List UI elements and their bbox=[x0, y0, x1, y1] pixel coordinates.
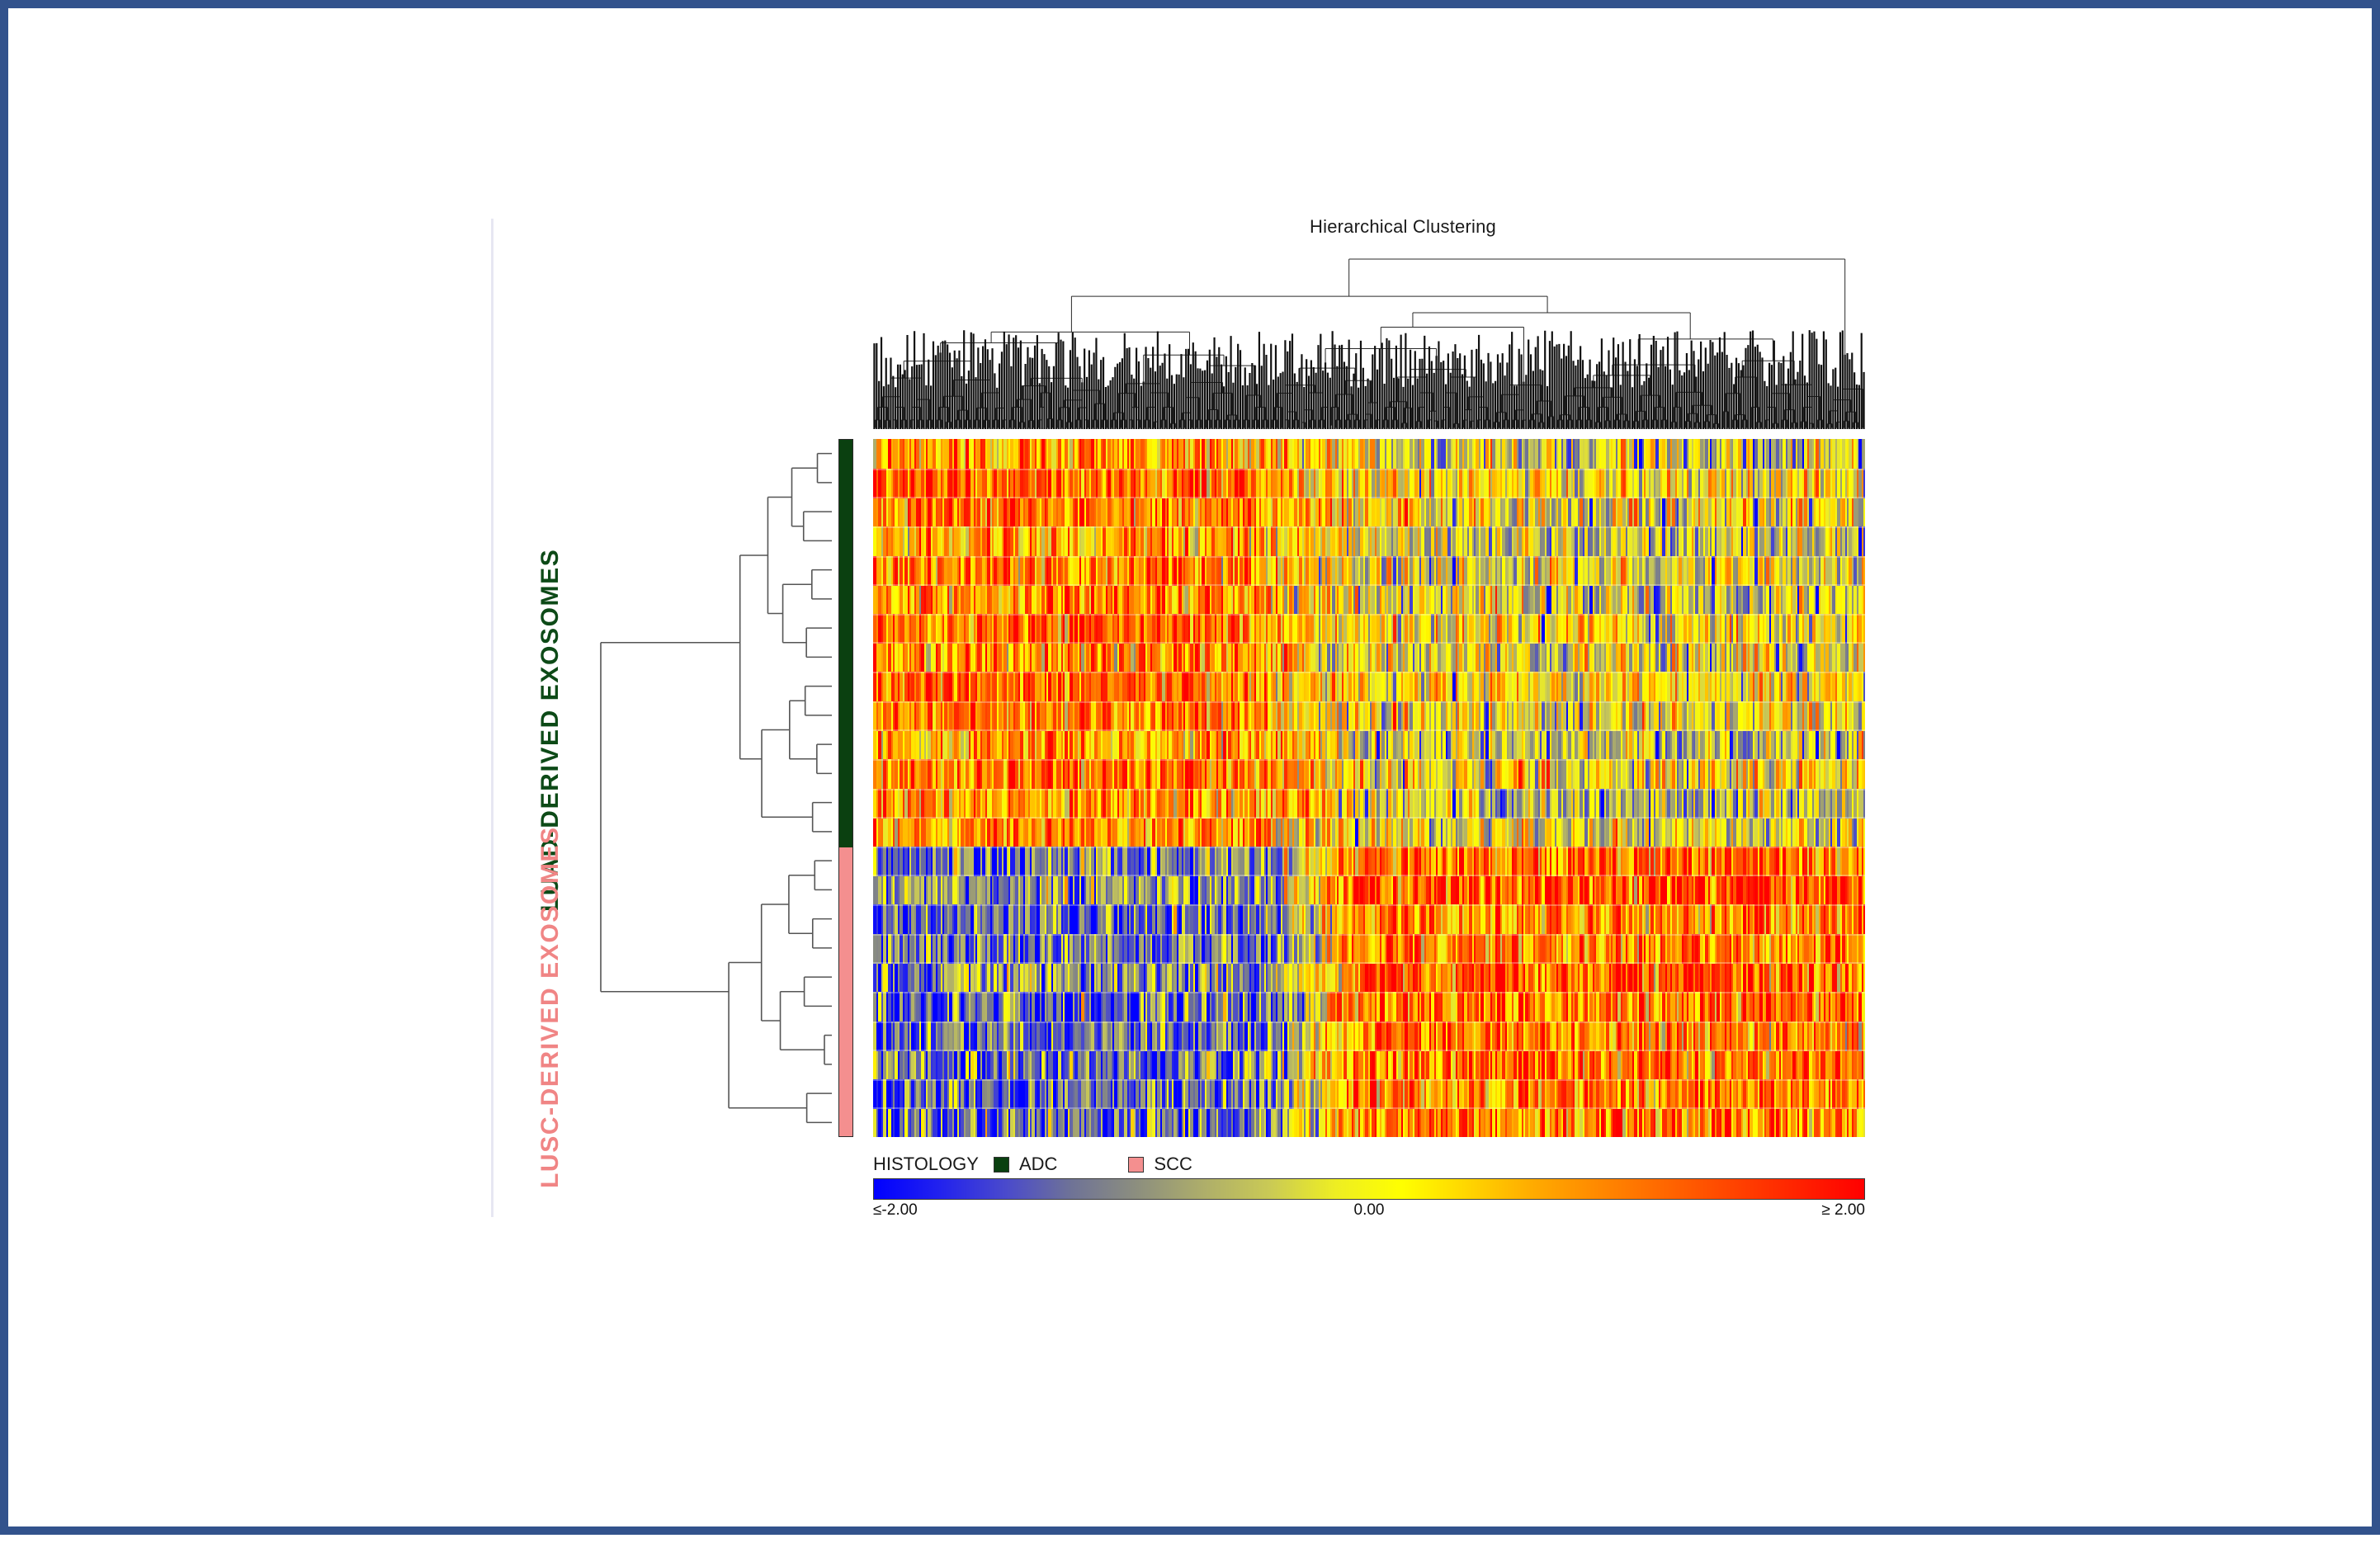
colorbar-max-label: ≥ 2.00 bbox=[1821, 1201, 1865, 1220]
histology-annotation-strip bbox=[838, 439, 853, 1137]
colorbar-tick-labels: ≤-2.00 0.00 ≥ 2.00 bbox=[873, 1200, 1865, 1221]
column-dendrogram-svg bbox=[873, 256, 1865, 429]
row-dendrogram bbox=[586, 439, 833, 1137]
row-group-label-lusc: LUSC-DERIVED EXOSOMES bbox=[536, 826, 564, 1188]
figure-frame: Hierarchical Clustering LUAD-DERIVED EXO… bbox=[0, 0, 2380, 1535]
colorbar-min-label: ≤-2.00 bbox=[873, 1201, 918, 1220]
row-dendrogram-links bbox=[601, 454, 832, 1123]
histology-segment-adc bbox=[839, 440, 852, 847]
heatmap-canvas bbox=[873, 439, 1865, 1137]
row-dendrogram-svg bbox=[586, 439, 833, 1137]
histology-legend: HISTOLOGY ADC SCC bbox=[873, 1152, 1192, 1177]
legend-label-scc: SCC bbox=[1154, 1154, 1192, 1175]
left-divider-rule bbox=[491, 219, 493, 1217]
column-dendrogram bbox=[873, 256, 1865, 429]
figure-canvas: Hierarchical Clustering LUAD-DERIVED EXO… bbox=[8, 8, 2380, 1543]
hierarchical-clustering-title: Hierarchical Clustering bbox=[1230, 216, 1576, 238]
histology-segment-scc bbox=[839, 847, 852, 1136]
legend-title: HISTOLOGY bbox=[873, 1154, 979, 1175]
legend-label-adc: ADC bbox=[1019, 1154, 1057, 1175]
colorbar-group: ≤-2.00 0.00 ≥ 2.00 bbox=[873, 1178, 1865, 1221]
legend-swatch-scc bbox=[1128, 1157, 1144, 1173]
legend-swatch-adc bbox=[994, 1157, 1009, 1173]
colorbar-mid-label: 0.00 bbox=[1354, 1201, 1385, 1220]
colorbar-gradient bbox=[873, 1178, 1865, 1200]
expression-heatmap bbox=[873, 439, 1865, 1137]
